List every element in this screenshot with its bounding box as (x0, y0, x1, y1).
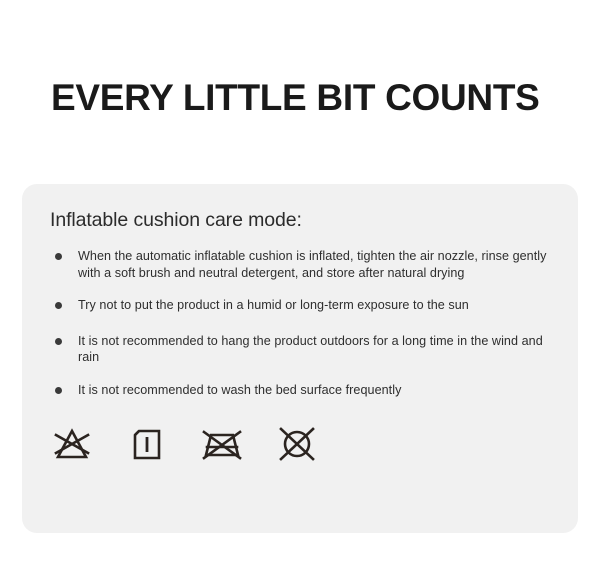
care-instructions-list: When the automatic inflatable cushion is… (50, 248, 560, 398)
bullet-dot-icon (55, 338, 62, 345)
list-item: It is not recommended to wash the bed su… (50, 382, 560, 399)
do-not-iron-icon (200, 422, 244, 466)
bullet-dot-icon (55, 387, 62, 394)
care-instructions-page: EVERY LITTLE BIT COUNTS Inflatable cushi… (0, 0, 600, 583)
list-item-label: It is not recommended to hang the produc… (78, 333, 560, 366)
care-symbols-row (50, 422, 319, 466)
list-item: When the automatic inflatable cushion is… (50, 248, 560, 281)
list-item-label: Try not to put the product in a humid or… (78, 297, 560, 314)
page-title: EVERY LITTLE BIT COUNTS (51, 76, 540, 120)
card-title: Inflatable cushion care mode: (50, 209, 302, 232)
list-item: Try not to put the product in a humid or… (50, 297, 560, 314)
bullet-dot-icon (55, 302, 62, 309)
do-not-bleach-icon (50, 422, 94, 466)
bullet-dot-icon (55, 253, 62, 260)
drip-dry-icon (125, 422, 169, 466)
list-item: It is not recommended to hang the produc… (50, 333, 560, 366)
do-not-dry-clean-icon (275, 422, 319, 466)
list-item-label: It is not recommended to wash the bed su… (78, 382, 560, 399)
care-instructions-card: Inflatable cushion care mode: When the a… (22, 184, 578, 533)
list-item-label: When the automatic inflatable cushion is… (78, 248, 560, 281)
